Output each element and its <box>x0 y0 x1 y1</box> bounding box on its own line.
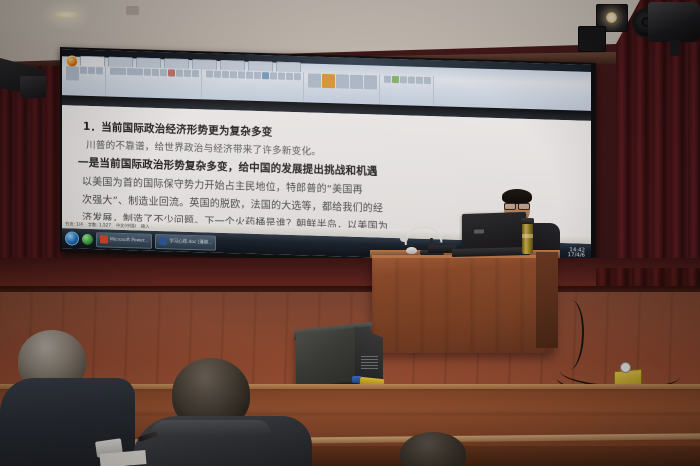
word-icon <box>159 237 167 245</box>
laptop-logo <box>474 229 484 233</box>
ribbon-group-paragraph[interactable] <box>204 69 304 102</box>
camera-mount <box>670 40 680 56</box>
podium <box>372 255 554 353</box>
taskbar-item-word[interactable]: 学习心得.doc [兼容... <box>155 233 216 250</box>
stage-light-fixture-center-lower <box>578 26 606 52</box>
ceiling-vent <box>126 6 139 15</box>
ribbon-group-clipboard[interactable] <box>64 65 106 96</box>
junction-box-connector <box>620 362 631 373</box>
thermos-band <box>522 234 533 238</box>
browser-icon[interactable] <box>82 233 93 244</box>
status-word-count: 字数: 1,527 <box>88 221 111 228</box>
taskbar-item-word-label: 学习心得.doc [兼容... <box>169 238 212 245</box>
podium-wood-grain <box>372 258 554 353</box>
taskbar-item-powerpoint-label: Microsoft Power... <box>110 237 148 243</box>
ceiling-light-icon <box>52 10 80 19</box>
status-language: 中文(中国) <box>116 222 136 229</box>
ribbon-group-styles[interactable] <box>306 72 380 104</box>
computer-mouse <box>406 247 417 254</box>
podium-side-panel <box>536 252 558 348</box>
microphone-head-icon <box>400 236 408 242</box>
ribbon-group-editing[interactable] <box>382 75 434 107</box>
presenter-hair <box>502 189 532 204</box>
thermos-bottle <box>522 222 533 254</box>
notepad-paper <box>99 450 146 466</box>
status-insert-mode: 插入 <box>141 223 149 229</box>
status-page-indicator: 节页: 1/4 <box>65 221 83 228</box>
stage-curtain-right <box>616 0 700 300</box>
stage-light-fixture-left-small <box>20 76 46 98</box>
lecture-hall-photo: 1．当前国际政治经济形势更为复杂多变 川普的不靠谱，给世界政治与经济带来了许多新… <box>0 0 700 466</box>
start-button-icon[interactable] <box>65 231 79 245</box>
video-camera <box>648 2 700 42</box>
powerpoint-icon <box>100 235 108 243</box>
ribbon-group-font[interactable] <box>108 67 202 100</box>
speaker-grill-icon <box>361 356 378 369</box>
audience-shoulder-highlight <box>150 420 270 436</box>
thermos-cap <box>521 218 534 224</box>
glasses-icon <box>504 203 530 208</box>
taskbar-item-powerpoint[interactable]: Microsoft Power... <box>96 232 152 249</box>
